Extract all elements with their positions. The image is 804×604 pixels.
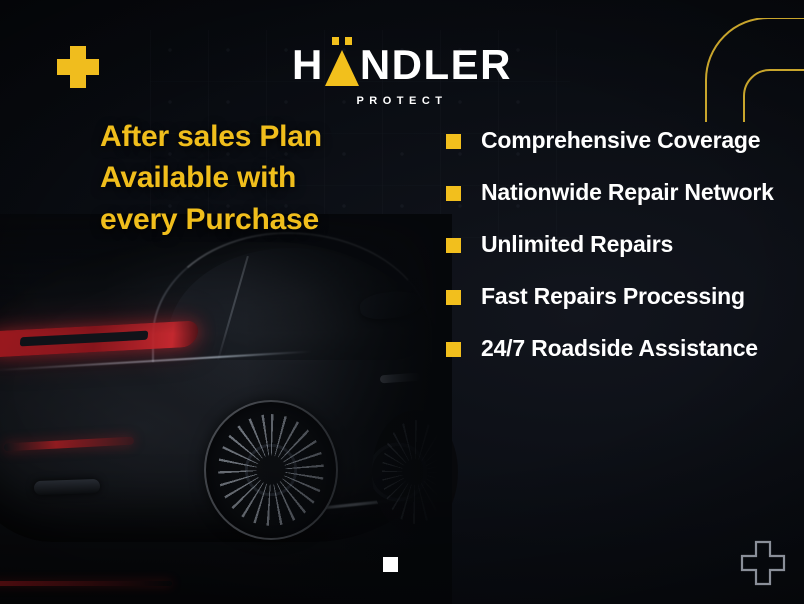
list-item: Fast Repairs Processing — [446, 282, 776, 312]
benefit-label: Fast Repairs Processing — [481, 282, 745, 312]
page-title: After sales Plan Available with every Pu… — [100, 116, 410, 240]
list-item: Comprehensive Coverage — [446, 126, 776, 156]
headline-line-3: every Purchase — [100, 199, 410, 240]
brand-name-part-2: NDLER — [360, 44, 512, 86]
brand-logo: H NDLER PROTECT — [0, 44, 804, 107]
plus-outline-icon — [740, 540, 786, 586]
list-item: 24/7 Roadside Assistance — [446, 334, 776, 364]
bullet-square-icon — [446, 290, 461, 305]
headline-line-1: After sales Plan — [100, 116, 410, 157]
bullet-square-icon — [446, 134, 461, 149]
bullet-square-icon — [446, 342, 461, 357]
white-square-marker — [383, 557, 398, 572]
list-item: Unlimited Repairs — [446, 230, 776, 260]
list-item: Nationwide Repair Network — [446, 178, 776, 208]
promo-banner: H NDLER PROTECT After sales Plan Availab… — [0, 0, 804, 604]
brand-name-part-1: H — [292, 44, 324, 86]
benefit-label: Unlimited Repairs — [481, 230, 673, 260]
bullet-square-icon — [446, 186, 461, 201]
brand-tagline: PROTECT — [356, 95, 447, 107]
headline-line-2: Available with — [100, 157, 410, 198]
brand-a-glyph-icon — [325, 46, 359, 86]
benefit-label: 24/7 Roadside Assistance — [481, 334, 758, 364]
bullet-square-icon — [446, 238, 461, 253]
benefit-label: Nationwide Repair Network — [481, 178, 774, 208]
brand-wordmark: H NDLER — [292, 44, 512, 86]
benefit-label: Comprehensive Coverage — [481, 126, 760, 156]
benefits-list: Comprehensive Coverage Nationwide Repair… — [446, 126, 776, 363]
